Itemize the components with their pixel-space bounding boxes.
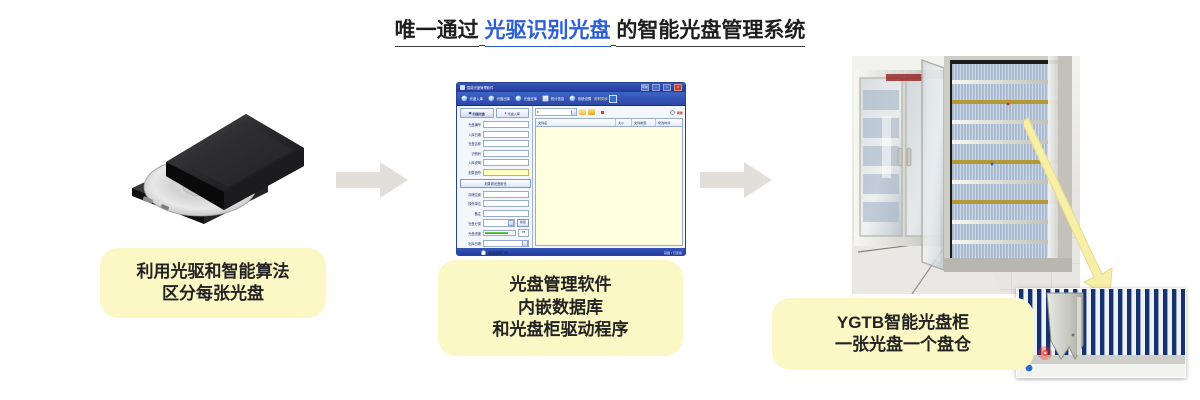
toolbar-button-disc-return[interactable]: 光盘还库 xyxy=(513,94,539,103)
statistics-icon xyxy=(542,95,549,102)
row-disc-type: 光盘分类 新建 xyxy=(460,219,529,227)
radio-icon[interactable] xyxy=(670,110,675,115)
drive-path-value: F: xyxy=(536,110,571,114)
folder-icon[interactable] xyxy=(579,109,586,115)
dvd-drive-image xyxy=(118,104,310,226)
disc-name-input[interactable] xyxy=(483,140,529,147)
field-label: 光盘编号 xyxy=(460,122,481,127)
column-header-filename[interactable]: 文件名 xyxy=(536,119,616,126)
field-label: 存储位置 xyxy=(460,192,481,197)
file-list-grid[interactable]: 文件名 大小 文件类型 修改时间 xyxy=(535,118,683,246)
toolbar-button-disc-out[interactable]: 光盘出库 xyxy=(486,94,512,103)
field-remark: 备注 xyxy=(460,210,529,217)
caption-left: 利用光驱和智能算法 区分每张光盘 xyxy=(100,248,326,318)
field-label: 光盘名称 xyxy=(460,141,481,146)
help-button[interactable]: 帮助 xyxy=(641,84,649,91)
chevron-down-icon xyxy=(522,240,528,247)
checkbox-icon[interactable] xyxy=(481,250,487,256)
tab-disc-in[interactable]: ● 光盘入库 xyxy=(496,108,530,118)
field-label: 入库说明 xyxy=(460,160,481,165)
flow-arrow-1 xyxy=(336,162,408,198)
app-window-title: 智能光盘管理软件 xyxy=(467,85,493,90)
minimize-button[interactable]: — xyxy=(652,84,660,91)
toolbar-label: 光盘出库 xyxy=(497,96,511,101)
field-in-date: 入库日期 xyxy=(460,131,529,138)
operating-unit-input[interactable] xyxy=(483,200,529,207)
file-list-header: 文件名 大小 文件类型 修改时间 xyxy=(536,119,682,127)
caption-middle-line2: 内嵌数据库 xyxy=(518,297,603,319)
caption-left-line2: 区分每张光盘 xyxy=(162,283,264,305)
gear-icon xyxy=(569,95,576,102)
row-out-date: 出库日期 xyxy=(460,240,529,248)
auto-print-row[interactable]: 自动出库打印 xyxy=(460,250,529,256)
sync-icon xyxy=(609,95,617,103)
field-operating-unit: 操作单位 xyxy=(460,200,529,207)
refresh-label: 刷新 xyxy=(677,110,683,115)
status-text: 就绪 / 已连接 xyxy=(664,250,682,255)
field-label: 识别码 xyxy=(460,151,481,156)
column-header-size[interactable]: 大小 xyxy=(616,119,632,126)
app-side-panel: ▣ 扫描光盘 ● 光盘入库 光盘编号 入库日期 xyxy=(457,106,533,248)
tab-label: 扫描光盘 xyxy=(473,111,485,116)
field-in-note: 入库说明 xyxy=(460,159,529,166)
sync-label: 即时同步 xyxy=(594,96,608,101)
field-label: 出库日期 xyxy=(460,241,481,246)
field-disc-name: 光盘名称 xyxy=(460,140,529,147)
flow-arrow-2 xyxy=(700,162,772,198)
file-list-body[interactable] xyxy=(536,127,682,245)
field-burn-drive: 刻录盘符 xyxy=(460,169,529,176)
auto-print-label: 自动出库打印 xyxy=(488,250,508,255)
toolbar-label: 光盘还库 xyxy=(524,96,538,101)
caption-right: YGTB智能光盘柜 一张光盘一个盘仓 xyxy=(772,298,1034,370)
toolbar-button-settings[interactable]: 系统设置 xyxy=(567,94,593,103)
field-disc-number: 光盘编号 xyxy=(460,121,529,128)
scan-icon: ▣ xyxy=(469,111,472,115)
out-date-select[interactable] xyxy=(483,240,529,248)
refresh-option[interactable]: 刷新 xyxy=(670,110,683,115)
toolbar-label: 光盘入库 xyxy=(470,96,484,101)
in-note-input[interactable] xyxy=(483,159,529,166)
maximize-button[interactable]: □ xyxy=(663,84,671,91)
field-label: 光盘进度 xyxy=(460,231,481,236)
disc-management-software-window[interactable]: 智能光盘管理软件 帮助 — □ ✕ 光盘入库 光盘出库 光盘还库 xyxy=(456,82,686,256)
burn-to-cabinet-button[interactable]: 刻录到光盘柜仓 xyxy=(460,179,531,188)
chevron-down-icon xyxy=(571,110,577,115)
sync-indicator[interactable]: 即时同步 xyxy=(594,95,617,103)
disc-type-select[interactable] xyxy=(483,219,515,227)
disc-in-icon: ● xyxy=(505,111,507,115)
toolbar-label: 统计信息 xyxy=(551,96,565,101)
field-label: 光盘分类 xyxy=(460,221,481,226)
toolbar-label: 系统设置 xyxy=(578,96,592,101)
app-main-panel: F: 刷新 文件名 大小 文件类型 xyxy=(533,106,685,248)
chevron-down-icon xyxy=(508,220,514,227)
remark-input[interactable] xyxy=(483,210,529,217)
caption-middle-line3: 和光盘柜驱动程序 xyxy=(493,319,629,341)
disc-slot-closeup-image xyxy=(1016,288,1186,378)
row-progress: 光盘进度 78 xyxy=(460,229,529,237)
side-tab-strip: ▣ 扫描光盘 ● 光盘入库 xyxy=(460,108,529,118)
slide-canvas: 唯一通过 光驱识别光盘 的智能光盘管理系统 xyxy=(0,0,1200,400)
storage-location-input[interactable] xyxy=(483,191,529,198)
stop-icon[interactable] xyxy=(601,111,604,114)
toolbar-button-disc-in[interactable]: 光盘入库 xyxy=(459,94,485,103)
tab-scan-disc[interactable]: ▣ 扫描光盘 xyxy=(460,108,494,118)
caption-left-line1: 利用光驱和智能算法 xyxy=(137,261,290,283)
field-label: 刻录盘符 xyxy=(460,170,481,175)
caption-middle: 光盘管理软件 内嵌数据库 和光盘柜驱动程序 xyxy=(438,260,683,356)
column-header-filetype[interactable]: 文件类型 xyxy=(632,119,656,126)
identifier-input[interactable] xyxy=(483,150,529,157)
close-button[interactable]: ✕ xyxy=(674,84,682,91)
disc-return-icon xyxy=(515,95,522,102)
in-date-input[interactable] xyxy=(483,131,529,138)
app-body: ▣ 扫描光盘 ● 光盘入库 光盘编号 入库日期 xyxy=(457,106,685,248)
column-header-modified[interactable]: 修改时间 xyxy=(656,119,682,126)
new-type-button[interactable]: 新建 xyxy=(517,219,529,227)
app-logo-icon xyxy=(460,85,465,90)
field-label: 入库日期 xyxy=(460,132,481,137)
burn-drive-input[interactable] xyxy=(483,169,529,176)
callout-arrow-icon xyxy=(1024,116,1134,306)
caption-middle-line1: 光盘管理软件 xyxy=(510,274,612,296)
caption-right-line1: YGTB智能光盘柜 xyxy=(837,312,969,334)
field-storage-location: 存储位置 xyxy=(460,191,529,198)
title-highlight: 光驱识别光盘 xyxy=(485,14,611,47)
field-identifier: 识别码 xyxy=(460,150,529,157)
app-title-bar: 智能光盘管理软件 帮助 — □ ✕ xyxy=(457,83,685,92)
caption-right-line2: 一张光盘一个盘仓 xyxy=(835,334,971,356)
disc-out-icon xyxy=(488,95,495,102)
main-toolbar: F: 刷新 xyxy=(535,108,683,116)
disc-in-icon xyxy=(461,95,468,102)
title-part2: 的智能光盘管理系统 xyxy=(616,14,805,47)
field-label: 备注 xyxy=(460,211,481,216)
drive-path-select[interactable]: F: xyxy=(535,108,577,116)
disc-number-input[interactable] xyxy=(483,121,529,128)
progress-bar xyxy=(483,230,516,236)
app-toolbar: 光盘入库 光盘出库 光盘还库 统计信息 系统设置 即时同步 xyxy=(457,92,685,106)
toolbar-button-statistics[interactable]: 统计信息 xyxy=(540,94,566,103)
folder-open-icon[interactable] xyxy=(588,109,595,115)
page-title: 唯一通过 光驱识别光盘 的智能光盘管理系统 xyxy=(0,14,1200,47)
tab-label: 光盘入库 xyxy=(508,111,520,116)
progress-value[interactable]: 78 xyxy=(518,229,529,237)
field-label: 操作单位 xyxy=(460,201,481,206)
title-part1: 唯一通过 xyxy=(395,14,479,47)
